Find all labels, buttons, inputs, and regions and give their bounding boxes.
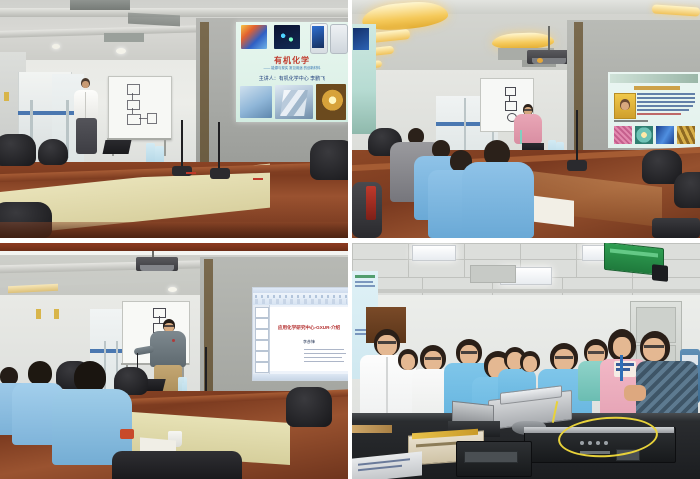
ppt-slide-author: 李彦锋: [270, 339, 348, 345]
laptop: [103, 140, 132, 154]
micrograph-gold2: [677, 126, 695, 144]
ceiling-spotlight: [116, 48, 126, 54]
slide-text-line-highlight: [637, 113, 681, 115]
paper-sheet: [530, 195, 574, 226]
microphone-base: [172, 166, 192, 176]
tshirt-text: [616, 368, 630, 371]
slide-header-band: [610, 74, 698, 83]
instructor-hand: [624, 385, 646, 401]
building-facade: [280, 90, 308, 116]
microphone-stem: [576, 110, 578, 162]
lanyard: [620, 355, 623, 381]
person: [398, 349, 418, 371]
projection-screen: [608, 72, 700, 148]
lanyard: [520, 130, 522, 144]
office-chair: [286, 387, 332, 427]
slide-image-crystals: [241, 25, 267, 49]
slide-subtitle: —— 能源与现实 常见用途 的创新材料: [236, 65, 348, 70]
mount-bracket: [652, 264, 668, 282]
slide-text-line: [637, 109, 689, 111]
audience-member: [28, 361, 52, 385]
shirt-placket: [85, 92, 86, 118]
slide-caption-line: [614, 120, 648, 122]
microphone-stem: [181, 120, 183, 168]
ppt-slide-title: 应用化学研究中心-GXUR-介绍: [270, 325, 348, 331]
ceiling-panel-light: [412, 245, 456, 261]
slide-image-smartphone: [330, 24, 348, 54]
ceiling-vent: [104, 33, 144, 42]
microphone-base: [567, 160, 587, 171]
projection-screen: 应用化学研究中心-GXUR-介绍 李彦锋: [252, 287, 348, 381]
instrument-slot: [464, 451, 518, 463]
person: [520, 351, 540, 373]
powerpoint-presentation-scene: 应用化学研究中心-GXUR-介绍 李彦锋: [0, 243, 348, 479]
micrograph-blue: [656, 126, 674, 144]
projector-lens: [537, 58, 543, 63]
office-chair: [38, 139, 68, 165]
micrograph-pink: [614, 126, 632, 144]
smartphone-screen: [312, 26, 324, 48]
slide-image-molecule: [274, 25, 300, 49]
presenter-polo-shirt: [150, 331, 186, 367]
slide-image-led: [316, 84, 346, 120]
ceiling-spotlight: [52, 44, 60, 49]
microphone-base: [210, 168, 230, 179]
tshirt-text: [616, 363, 634, 366]
ppt-ribbon-tabs: [255, 295, 347, 298]
ppt-slide-canvas: 应用化学研究中心-GXUR-介绍 李彦锋: [270, 307, 348, 371]
shirt-logo: [172, 339, 175, 342]
office-chair: [0, 134, 36, 166]
ceiling-spotlight: [168, 287, 177, 292]
adjacent-slide-thumb: [353, 28, 369, 50]
office-chair: [674, 172, 700, 208]
foreground-chair: [112, 451, 242, 479]
bench-item: [352, 425, 392, 433]
ceiling-red-band: [0, 243, 348, 251]
seminar-audience-scene: [352, 0, 700, 238]
projector-mount: [548, 26, 550, 52]
slide-text-line: [637, 97, 695, 99]
panel-bottom-right: [352, 243, 700, 479]
ppt-ribbon-icons: [255, 299, 347, 304]
audience-shirt: [462, 162, 534, 238]
ceiling-edge: [0, 251, 348, 255]
laboratory-tour-scene: [352, 243, 700, 479]
person-instructor: [640, 331, 670, 365]
whiteboard-leg: [164, 140, 166, 156]
microphone-stem: [205, 347, 207, 397]
projector-lens-housing: [140, 265, 174, 271]
wall-column-strip: [200, 22, 209, 168]
drink-bottle: [366, 186, 376, 220]
microphone-indicator: [186, 172, 196, 174]
table-foreground: [0, 222, 348, 238]
lecture-hall-scene: 有机化学 —— 能源与现实 常见用途 的创新材料 主讲人：有机化学中心 李鹏飞: [0, 0, 348, 238]
slide-text-line: [637, 93, 695, 95]
whiteboard: [108, 76, 172, 140]
microphone-indicator: [253, 178, 263, 180]
ceiling-vent: [70, 0, 130, 10]
panel-bottom-left: 应用化学研究中心-GXUR-介绍 李彦锋: [0, 243, 348, 479]
projection-screen: 有机化学 —— 能源与现实 常见用途 的创新材料 主讲人：有机化学中心 李鹏飞: [236, 22, 348, 122]
slide-portrait-photo: [614, 93, 636, 119]
wall-plaque: [36, 309, 41, 319]
microphone-stem: [218, 122, 220, 170]
wall-plaque: [54, 309, 59, 319]
wall-plaque: [4, 92, 9, 101]
foreground-chair: [652, 218, 700, 238]
ppt-status-bar: [253, 374, 348, 380]
panel-top-left: 有机化学 —— 能源与现实 常见用途 的创新材料 主讲人：有机化学中心 李鹏飞: [0, 0, 348, 238]
ppt-thumbnail-pane: [253, 305, 270, 375]
slide-presenter-line: 主讲人：有机化学中心 李鹏飞: [236, 75, 348, 82]
office-chair: [310, 140, 348, 180]
presenter-trousers: [76, 118, 97, 154]
speaker-shirt: [514, 114, 542, 144]
handheld-object: [120, 429, 134, 439]
slide-text-line: [637, 101, 695, 103]
micrograph-gold: [635, 126, 653, 144]
ceiling-vent: [470, 265, 516, 283]
slide-text-line: [637, 105, 693, 107]
slide-title-bar: [634, 86, 680, 90]
wall-trim: [352, 289, 700, 293]
photo-collage: 有机化学 —— 能源与现实 常见用途 的创新材料 主讲人：有机化学中心 李鹏飞: [0, 0, 700, 479]
slide-image-solar-panel: [240, 86, 272, 118]
panel-top-right: [352, 0, 700, 238]
